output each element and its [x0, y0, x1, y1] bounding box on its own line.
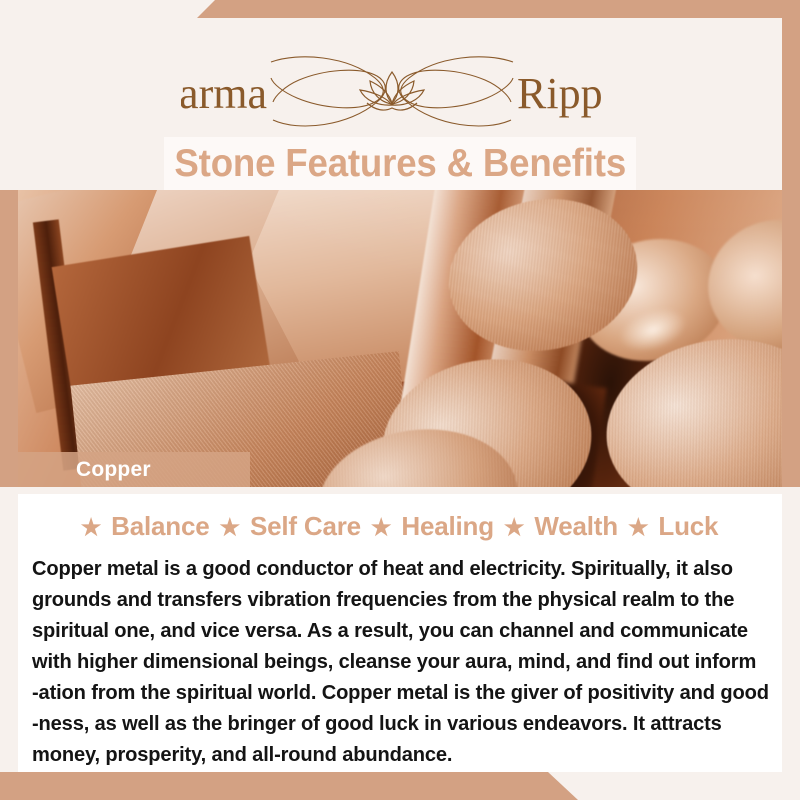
- description-line-3: spiritual one, and vice versa. As a resu…: [32, 616, 757, 647]
- description-line-1: Copper metal is a good conductor of heat…: [32, 554, 757, 585]
- copper-bars-photo: [18, 190, 782, 487]
- photo-caption-bar: Copper: [18, 452, 250, 487]
- benefit-item-self-care: Self Care: [241, 511, 370, 541]
- description-line-7: money, prosperity, and all-round abundan…: [32, 740, 757, 771]
- description-line-4: with higher dimensional beings, cleanse …: [32, 647, 757, 678]
- star-icon: ★: [80, 514, 102, 540]
- content-panel: ★ Balance ★ Self Care ★ Healing ★ Wealth…: [18, 494, 782, 772]
- title-banner: Stone Features & Benefits: [164, 137, 636, 191]
- photo-sheen: [18, 190, 782, 487]
- photo-caption-label: Copper: [76, 458, 151, 482]
- benefit-item-balance: Balance: [102, 511, 218, 541]
- benefits-list: ★ Balance ★ Self Care ★ Healing ★ Wealth…: [18, 511, 782, 542]
- benefit-item-healing: Healing: [392, 511, 503, 541]
- infographic-card: Karma Ripple Stone Features & Benefits C…: [0, 0, 800, 800]
- description-text: Copper metal is a good conductor of heat…: [32, 554, 757, 771]
- description-line-2: grounds and transfers vibration frequenc…: [32, 585, 757, 616]
- page-title: Stone Features & Benefits: [174, 142, 626, 186]
- star-icon: ★: [370, 514, 392, 540]
- logo-artwork: Karma Ripple: [181, 46, 601, 132]
- frame-band-top: [0, 0, 800, 18]
- description-line-6: -ness, as well as the bringer of good lu…: [32, 709, 757, 740]
- description-line-5: -ation from the spiritual world. Copper …: [32, 678, 757, 709]
- frame-band-right: [782, 0, 800, 502]
- benefit-item-wealth: Wealth: [525, 511, 627, 541]
- star-icon: ★: [219, 514, 241, 540]
- brand-name-left: Karma: [181, 69, 267, 118]
- brand-logo: Karma Ripple: [181, 46, 601, 132]
- star-icon: ★: [627, 514, 649, 540]
- star-icon: ★: [503, 514, 525, 540]
- benefit-item-luck: Luck: [649, 511, 720, 541]
- brand-header: Karma Ripple: [0, 18, 782, 140]
- brand-name-right: Ripple: [517, 69, 601, 118]
